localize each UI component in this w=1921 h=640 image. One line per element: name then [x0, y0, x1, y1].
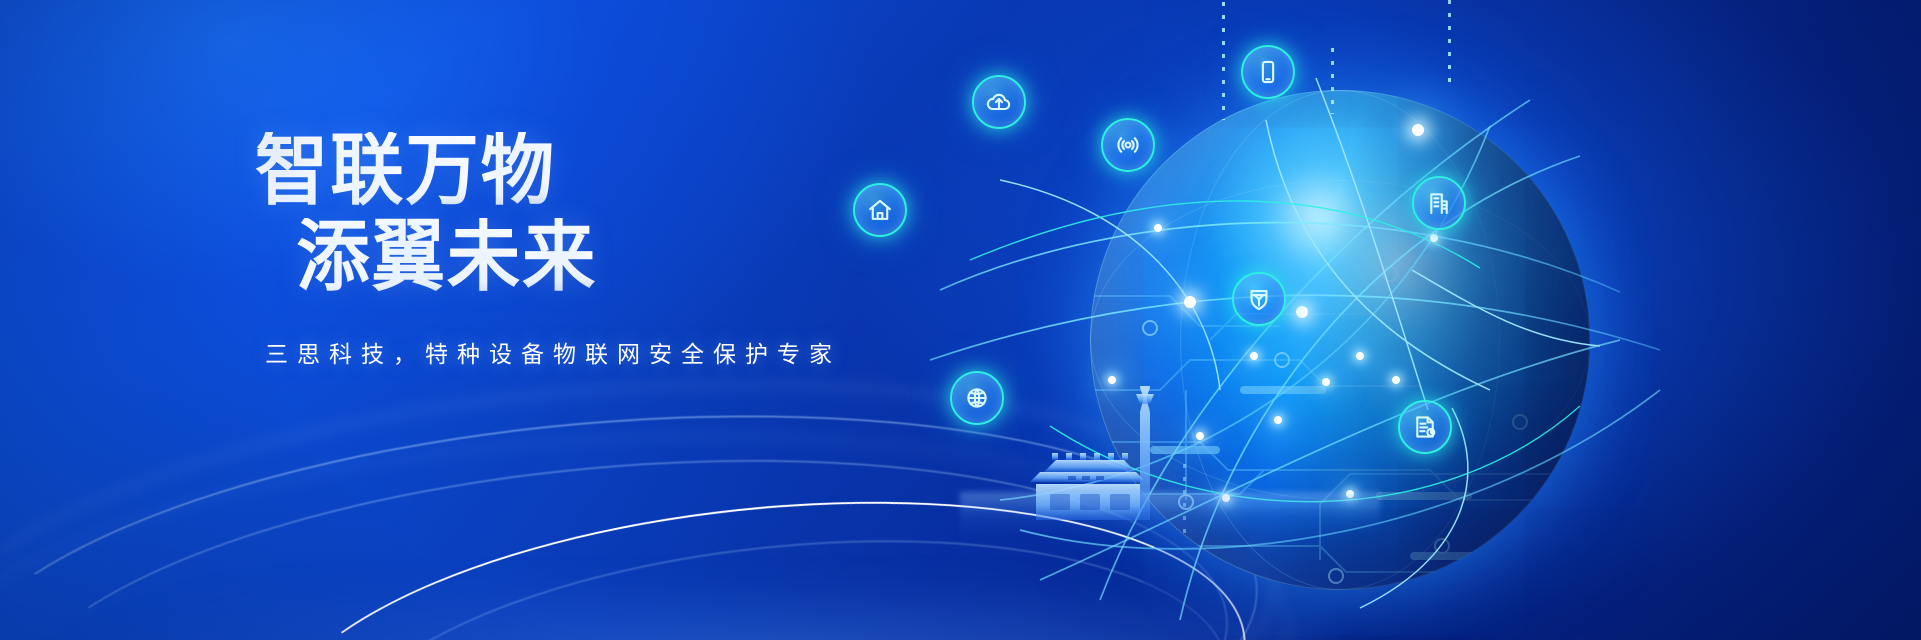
building-icon[interactable]	[1412, 176, 1466, 230]
network-node	[1322, 378, 1330, 386]
network-node	[1108, 376, 1116, 384]
water-reflection	[960, 492, 1380, 538]
network-node	[1296, 306, 1308, 318]
globe-network-icon[interactable]	[950, 371, 1004, 425]
network-node	[1250, 352, 1258, 360]
dotted-connector	[1448, 0, 1451, 84]
shield-icon[interactable]	[1232, 272, 1286, 326]
network-node	[1392, 376, 1400, 384]
network-node	[1274, 416, 1282, 424]
hero-banner: 智联万物 添翼未来 三思科技，特种设备物联网安全保护专家	[0, 0, 1921, 640]
dotted-connector	[1222, 2, 1225, 120]
cloud-upload-icon[interactable]	[972, 75, 1026, 129]
network-node	[1154, 224, 1162, 232]
network-node	[1412, 124, 1424, 136]
network-node	[1196, 432, 1204, 440]
report-doc-icon[interactable]	[1398, 400, 1452, 454]
hero-copy: 智联万物 添翼未来 三思科技，特种设备物联网安全保护专家	[255, 132, 1015, 369]
network-node	[1430, 234, 1438, 242]
mobile-phone-icon[interactable]	[1241, 45, 1295, 99]
hero-subtitle: 三思科技，特种设备物联网安全保护专家	[265, 335, 1015, 369]
home-icon[interactable]	[853, 183, 907, 237]
dotted-connector	[1331, 48, 1334, 114]
network-node	[1356, 352, 1364, 360]
network-node	[1184, 296, 1196, 308]
wifi-signal-icon[interactable]	[1101, 118, 1155, 172]
